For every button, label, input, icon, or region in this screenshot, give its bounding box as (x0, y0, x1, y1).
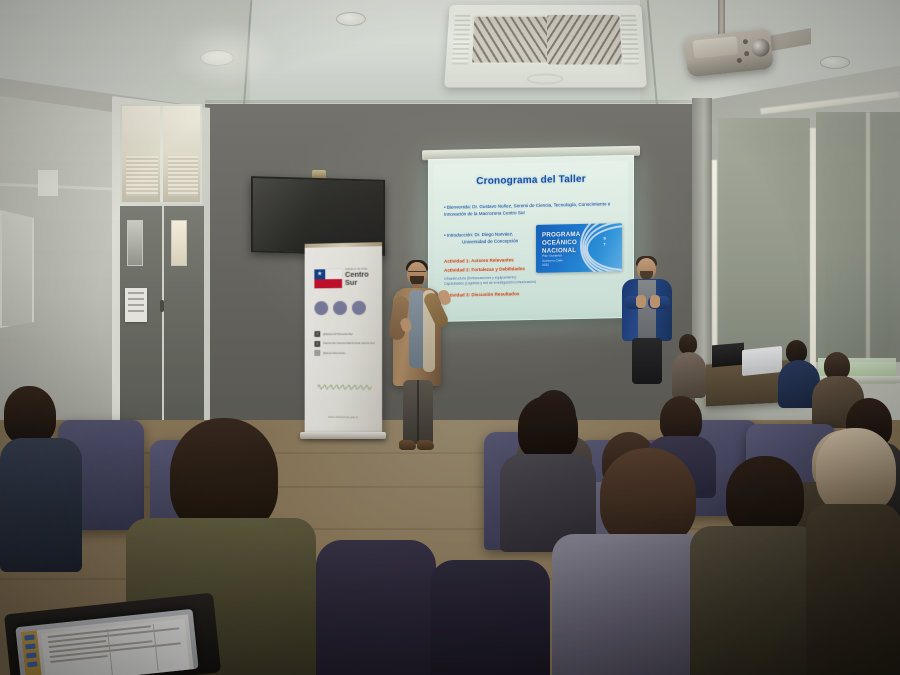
foreground-laptop[interactable] (15, 609, 198, 675)
twitter-icon: t (314, 331, 320, 337)
audience-head (816, 428, 896, 514)
logo-wordmark: PROGRAMA OCEÁNICO NACIONAL (542, 231, 580, 255)
audience-body (316, 540, 436, 675)
banner-dot (352, 301, 366, 315)
activity-text: Discusión Resultados (471, 291, 519, 297)
audience-head (726, 456, 804, 536)
audience-member (0, 386, 82, 566)
logo-subtext: Plan Oceánico Gobierno Chile 2022 (542, 253, 563, 267)
slide-content: Cronograma del Taller • Bienvenida: Dr. … (434, 161, 628, 316)
audience-head (170, 418, 278, 534)
flag-star-icon: ★ (317, 271, 322, 277)
audience-body (672, 352, 706, 398)
slide-bullet-welcome: • Bienvenida: Dr. Gustavo Nuñez, Seremi … (444, 201, 622, 218)
banner-social-list: t @SeremiCTCIcentroSur f Seremi de Cienc… (314, 331, 376, 360)
audience-head (679, 334, 697, 354)
ceiling-recessed-light (336, 12, 366, 26)
ceiling-recessed-light (820, 56, 850, 69)
attendee-legs (632, 338, 662, 384)
laptop-document (41, 619, 190, 675)
laptop-screen[interactable] (21, 614, 194, 675)
transom-mullion (160, 106, 163, 202)
bullet-marker: • (444, 205, 446, 210)
presenter-shoe (399, 440, 416, 450)
logo-side-letters: S T (603, 235, 606, 246)
audience-body (430, 560, 550, 675)
standing-attendee (620, 258, 674, 382)
door-leaf-right[interactable] (164, 206, 204, 441)
audience-body (0, 438, 82, 572)
window-light-gap (866, 112, 870, 360)
presenter-legs (403, 380, 433, 444)
slide-activity-3: Actividad 3: Discusión Resultados (444, 290, 564, 299)
instagram-icon: ◻ (314, 350, 320, 356)
door-leaf-left[interactable] (120, 206, 162, 441)
banner-dot (333, 301, 347, 315)
banner-social-handle: Seremi de Ciencia Macrozona Centro Sur (323, 342, 374, 345)
presenter-shoe (417, 440, 434, 450)
audience-member (430, 560, 550, 675)
presenter-leg-split (417, 380, 419, 444)
transom-blind (126, 156, 158, 196)
transom-blind (168, 156, 198, 196)
ceiling-ac-unit (444, 5, 647, 88)
presenter (385, 262, 455, 460)
ac-side-vent (620, 15, 639, 65)
banner-social-handle: @seremicienciacs (323, 351, 345, 354)
banner-social-row: ◻ @seremicienciacs (314, 350, 376, 356)
flag-white-band (325, 269, 342, 279)
flag-bottom-row (314, 279, 342, 289)
projector-vent-dot (744, 51, 749, 56)
banner-social-row: f Seremi de Ciencia Macrozona Centro Sur (314, 340, 376, 346)
audience-body (806, 504, 900, 675)
window-blind[interactable] (718, 118, 810, 376)
flag-blue-canton: ★ (314, 269, 325, 279)
door-sign (125, 288, 147, 322)
facebook-icon: f (314, 340, 320, 346)
ac-grille-icon (547, 15, 622, 65)
projector-pole (718, 0, 725, 36)
door-handle[interactable] (160, 300, 164, 312)
slide-activity-2-detail: Infraestructura (Embarcaciones y equipam… (444, 274, 564, 286)
laptop-app-sidebar (21, 630, 43, 675)
audience-member (672, 334, 706, 396)
door-vision-panel (171, 220, 187, 266)
ac-side-vent (452, 15, 471, 65)
wall-notice-paper (38, 170, 58, 196)
slide-title: Cronograma del Taller (434, 173, 628, 188)
ceiling-light-glow (170, 20, 280, 90)
desk-laptop (742, 346, 782, 376)
activity-text: Fortalezas y Debilidades (471, 266, 525, 272)
projector-lens-icon (751, 38, 771, 58)
banner-brandmark: Gobierno de Chile Centro Sur (345, 268, 369, 287)
projector-top-plate (693, 36, 739, 59)
attendee-left-hand (636, 295, 646, 308)
banner-dot (314, 301, 328, 315)
banner-url: www.minciencia.gob.cl (305, 414, 382, 419)
desk-monitor (712, 343, 744, 368)
attendee-right-hand (650, 295, 660, 308)
audience-member (316, 540, 436, 675)
logo-line-2: OCEÁNICO (542, 239, 577, 247)
window-blind[interactable] (816, 112, 900, 362)
banner-social-row: t @SeremiCTCIcentroSur (314, 331, 376, 337)
projection-screen: Cronograma del Taller • Bienvenida: Dr. … (428, 155, 634, 322)
wall-electrical-panel (0, 210, 34, 328)
audience-body (690, 526, 820, 675)
audience-member (806, 428, 900, 675)
banner-social-handle: @SeremiCTCIcentroSur (323, 332, 353, 335)
flag-red-band (314, 279, 342, 289)
door-vision-panel (127, 220, 143, 266)
door-transom-window (120, 104, 202, 204)
logo-line-1: PROGRAMA (542, 231, 580, 239)
banner-top-rail (305, 242, 382, 248)
audience-head (600, 448, 696, 546)
projector-vent-dot (737, 58, 742, 63)
bullet-text: Bienvenida: Dr. Gustavo Nuñez, Seremi de… (444, 201, 610, 216)
projector-vent-dot (743, 39, 748, 44)
programa-oceanico-nacional-logo: PROGRAMA OCEÁNICO NACIONAL S T Plan Oceá… (536, 223, 622, 273)
audience-head (4, 386, 56, 444)
attendee-inner-shirt (638, 280, 656, 340)
activity-text: Actores Relevantes (471, 257, 514, 263)
bullet-text: Introducción: Dr. Diego Narváez, (447, 231, 513, 237)
presenter-glasses-icon (408, 271, 426, 275)
banner-decorative-dots (314, 301, 366, 315)
chile-flag-emblem-icon: ★ (314, 269, 342, 288)
rollup-banner: ★ Gobierno de Chile Centro Sur t @Seremi… (305, 242, 382, 436)
banner-wave-graphic: ∿∿∿∿∿∿∿∿∿∿ (316, 383, 372, 394)
ac-center-knob (527, 73, 564, 84)
audience-member (690, 456, 820, 675)
flag-top-row: ★ (314, 269, 342, 279)
photo-scene: Cronograma del Taller • Bienvenida: Dr. … (0, 0, 900, 675)
bullet-marker: • (444, 233, 446, 238)
banner-brand-line2: Sur (345, 278, 369, 286)
ceiling-seam (205, 100, 725, 103)
